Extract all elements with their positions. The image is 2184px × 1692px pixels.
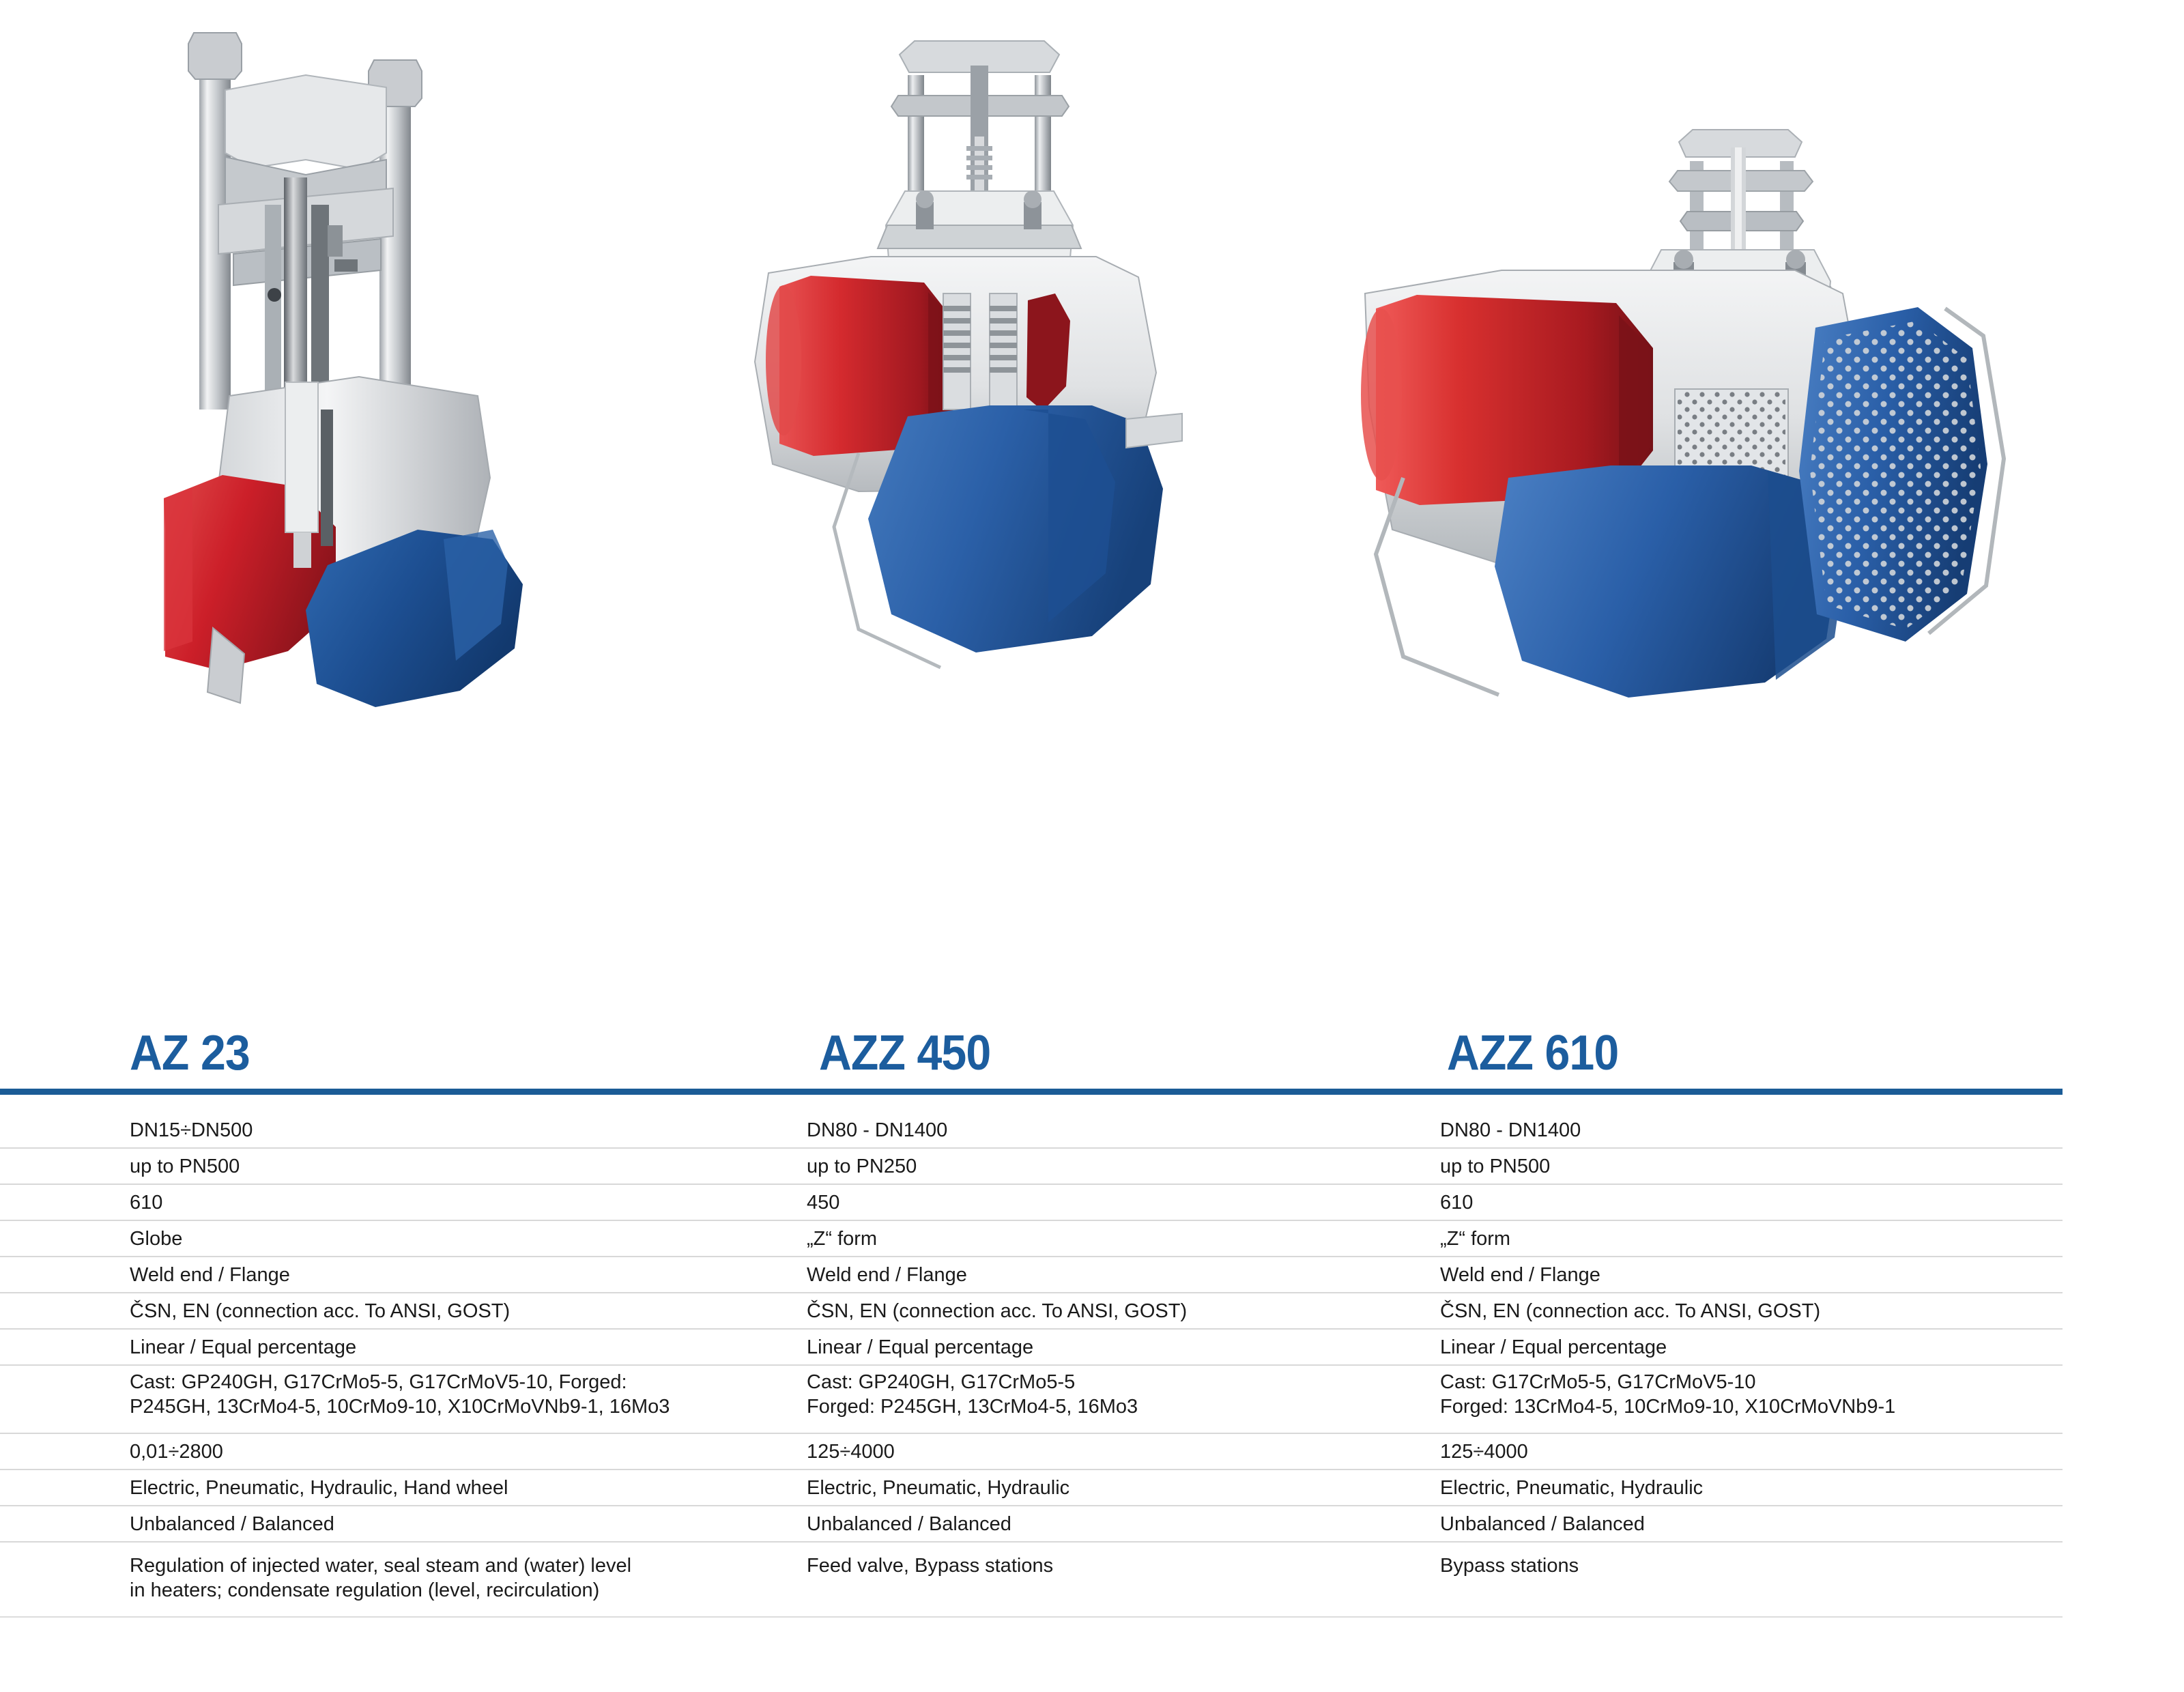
azz-610-valve-cutaway xyxy=(1338,0,2102,1010)
table-row-connection: Weld end / Flange Weld end / Flange Weld… xyxy=(0,1257,2063,1293)
table-row-trim-balance: Unbalanced / Balanced Unbalanced / Balan… xyxy=(0,1506,2063,1543)
table-row-pressure-rating: up to PN500 up to PN250 up to PN500 xyxy=(0,1149,2063,1185)
cell-azz450-trim-balance: Unbalanced / Balanced xyxy=(807,1506,1421,1536)
cell-azz610-trim-balance: Unbalanced / Balanced xyxy=(1440,1506,2061,1536)
cell-azz450-materials: Cast: GP240GH, G17CrMo5-5 Forged: P245GH… xyxy=(807,1366,1421,1419)
cell-azz610-pressure-rating: up to PN500 xyxy=(1440,1149,2061,1179)
product-image-azz-610 xyxy=(1338,0,2102,1010)
cell-az23-trim-balance: Unbalanced / Balanced xyxy=(130,1506,805,1536)
cell-azz610-standards: ČSN, EN (connection acc. To ANSI, GOST) xyxy=(1440,1293,2061,1323)
table-row-actuation: Electric, Pneumatic, Hydraulic, Hand whe… xyxy=(0,1470,2063,1506)
table-row-materials: Cast: GP240GH, G17CrMo5-5, G17CrMoV5-10,… xyxy=(0,1366,2063,1434)
cell-azz610-nominal-size: DN80 - DN1400 xyxy=(1440,1113,2061,1143)
cell-az23-application: Regulation of injected water, seal steam… xyxy=(130,1543,805,1603)
cell-azz450-characteristic: Linear / Equal percentage xyxy=(807,1330,1421,1360)
table-row-series: 610 450 610 xyxy=(0,1185,2063,1221)
cell-azz610-body-form: „Z“ form xyxy=(1440,1221,2061,1251)
cell-azz450-application: Feed valve, Bypass stations xyxy=(807,1543,1421,1578)
cell-azz450-kv-range: 125÷4000 xyxy=(807,1434,1421,1464)
cell-az23-body-form: Globe xyxy=(130,1221,805,1251)
specification-table: DN15÷DN500 DN80 - DN1400 DN80 - DN1400 u… xyxy=(0,1113,2063,1618)
table-row-kv-range: 0,01÷2800 125÷4000 125÷4000 xyxy=(0,1434,2063,1470)
product-image-azz-450 xyxy=(703,0,1283,1010)
page-title-az-23: AZ 23 xyxy=(130,1024,250,1082)
header-divider-rule xyxy=(0,1089,2063,1095)
table-row-body-form: Globe „Z“ form „Z“ form xyxy=(0,1221,2063,1257)
product-titles: AZ 23 AZZ 450 AZZ 610 xyxy=(0,1024,2184,1095)
table-row-characteristic: Linear / Equal percentage Linear / Equal… xyxy=(0,1330,2063,1366)
cell-azz450-standards: ČSN, EN (connection acc. To ANSI, GOST) xyxy=(807,1293,1421,1323)
page-title-azz-610: AZZ 610 xyxy=(1447,1024,1618,1082)
cell-azz450-series: 450 xyxy=(807,1185,1421,1215)
cell-azz450-actuation: Electric, Pneumatic, Hydraulic xyxy=(807,1470,1421,1500)
product-image-band xyxy=(0,0,2184,1010)
cell-azz610-kv-range: 125÷4000 xyxy=(1440,1434,2061,1464)
cell-azz610-actuation: Electric, Pneumatic, Hydraulic xyxy=(1440,1470,2061,1500)
cell-az23-series: 610 xyxy=(130,1185,805,1215)
cell-azz450-pressure-rating: up to PN250 xyxy=(807,1149,1421,1179)
cell-azz610-series: 610 xyxy=(1440,1185,2061,1215)
cell-azz610-materials: Cast: G17CrMo5-5, G17CrMoV5-10 Forged: 1… xyxy=(1440,1366,2061,1419)
cell-az23-standards: ČSN, EN (connection acc. To ANSI, GOST) xyxy=(130,1293,805,1323)
table-row-standards: ČSN, EN (connection acc. To ANSI, GOST) … xyxy=(0,1293,2063,1330)
cell-azz610-connection: Weld end / Flange xyxy=(1440,1257,2061,1287)
az-23-valve-cutaway xyxy=(123,0,669,1010)
cell-azz450-connection: Weld end / Flange xyxy=(807,1257,1421,1287)
page-title-azz-450: AZZ 450 xyxy=(819,1024,990,1082)
cell-az23-pressure-rating: up to PN500 xyxy=(130,1149,805,1179)
cell-az23-characteristic: Linear / Equal percentage xyxy=(130,1330,805,1360)
cell-az23-connection: Weld end / Flange xyxy=(130,1257,805,1287)
cell-azz610-characteristic: Linear / Equal percentage xyxy=(1440,1330,2061,1360)
table-row-nominal-size: DN15÷DN500 DN80 - DN1400 DN80 - DN1400 xyxy=(0,1113,2063,1149)
table-row-application: Regulation of injected water, seal steam… xyxy=(0,1543,2063,1618)
cell-az23-kv-range: 0,01÷2800 xyxy=(130,1434,805,1464)
cell-azz450-nominal-size: DN80 - DN1400 xyxy=(807,1113,1421,1143)
cell-az23-materials: Cast: GP240GH, G17CrMo5-5, G17CrMoV5-10,… xyxy=(130,1366,805,1419)
azz-450-valve-cutaway xyxy=(703,0,1283,1010)
cell-az23-actuation: Electric, Pneumatic, Hydraulic, Hand whe… xyxy=(130,1470,805,1500)
cell-az23-nominal-size: DN15÷DN500 xyxy=(130,1113,805,1143)
cell-azz610-application: Bypass stations xyxy=(1440,1543,2061,1578)
product-image-az-23 xyxy=(123,0,669,1010)
cell-azz450-body-form: „Z“ form xyxy=(807,1221,1421,1251)
